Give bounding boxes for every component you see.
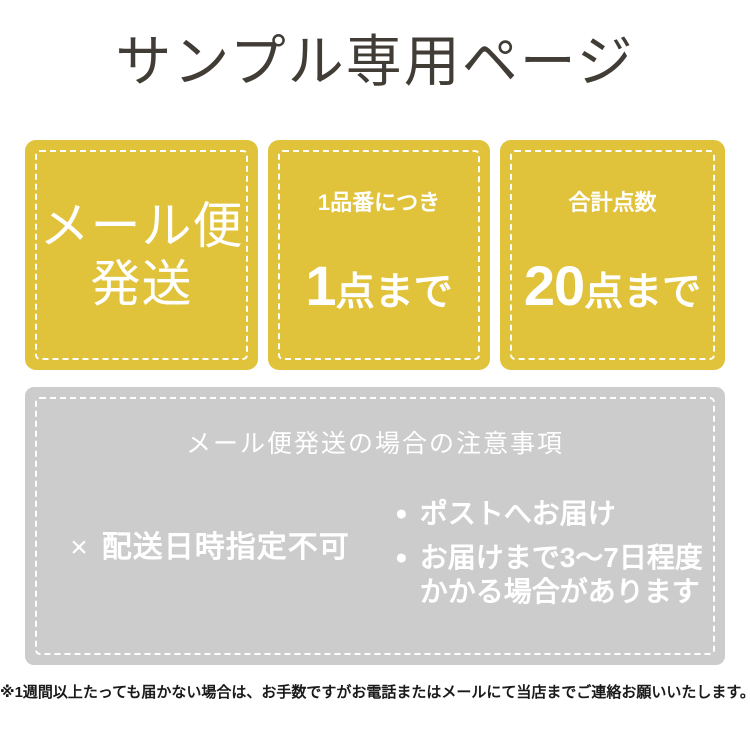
total-limit-number: 20 [524,258,584,314]
notice-heading: メール便発送の場合の注意事項 [25,429,725,459]
shipping-method-line-1: メール便 [25,197,258,255]
bullet-dot-icon: ● [395,541,408,575]
feature-box-content: メール便 発送 [25,197,258,313]
bullet-text: お届けまで3〜7日程度 かかる場合があります [420,541,703,609]
total-limit-caption: 合計点数 [500,190,725,216]
bullet-line-2: かかる場合があります [420,575,703,609]
feature-box-content: 1品番につき 1 点まで [268,190,490,321]
per-item-limit-unit: 点まで [336,265,453,321]
cross-mark-icon: × [70,533,88,563]
feature-box-per-item-limit: 1品番につき 1 点まで [268,140,490,370]
bullet-line-1: ポストへお届け [420,497,616,531]
notice-left-column: × 配送日時指定不可 [25,495,395,565]
feature-box-total-limit: 合計点数 20 点まで [500,140,725,370]
shipping-method-line-2: 発送 [25,255,258,313]
feature-box-content: 合計点数 20 点まで [500,190,725,321]
notice-panel: メール便発送の場合の注意事項 × 配送日時指定不可 ● ポストへお届け ● [25,387,725,665]
per-item-limit-caption: 1品番につき [268,190,490,216]
bullet-line-1: お届けまで3〜7日程度 [420,541,703,575]
list-item: ● ポストへお届け [395,497,725,531]
total-limit-unit: 点まで [584,265,701,321]
per-item-limit-number: 1 [305,258,335,314]
total-limit-value: 20 点まで [500,258,725,321]
feature-box-row: メール便 発送 1品番につき 1 点まで 合計点数 20 点まで [25,140,725,370]
notice-body: × 配送日時指定不可 ● ポストへお届け ● お届けまで3〜7日程度 かかる場合… [25,495,725,645]
no-date-designation-label: 配送日時指定不可 [102,531,350,565]
bullet-dot-icon: ● [395,497,408,531]
per-item-limit-value: 1 点まで [268,258,490,321]
page-title: サンプル専用ページ [0,28,750,96]
no-date-designation-item: × 配送日時指定不可 [70,531,350,565]
footnote: ※1週間以上たっても届かない場合は、お手数ですがお電話またはメールにて当店までご… [0,682,750,704]
sample-shipping-info-page: サンプル専用ページ メール便 発送 1品番につき 1 点まで 合計点数 [0,0,750,750]
notice-right-column: ● ポストへお届け ● お届けまで3〜7日程度 かかる場合があります [395,495,725,619]
bullet-text: ポストへお届け [420,497,616,531]
feature-box-shipping-method: メール便 発送 [25,140,258,370]
list-item: ● お届けまで3〜7日程度 かかる場合があります [395,541,725,609]
